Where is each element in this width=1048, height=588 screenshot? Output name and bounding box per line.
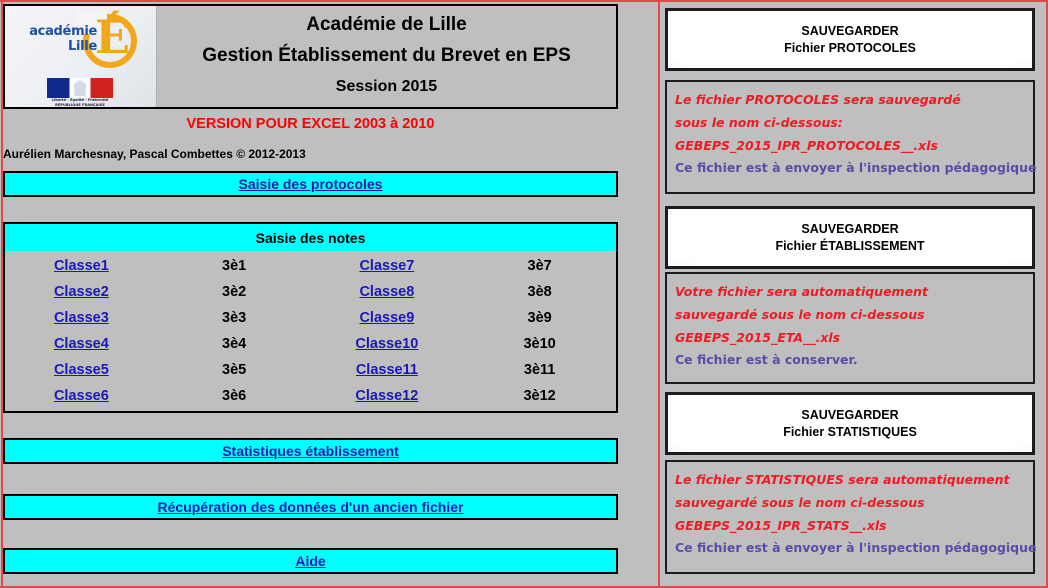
class-link-8[interactable]: Classe8 — [311, 284, 464, 300]
class-division-5: 3è5 — [158, 362, 311, 378]
republic-line2: RÉPUBLIQUE FRANÇAISE — [55, 103, 105, 107]
statistiques-info-box: Le fichier STATISTIQUES sera automatique… — [665, 460, 1035, 574]
save-etablissement-line1: SAUVEGARDER — [801, 221, 898, 238]
table-row[interactable]: Classe3 3è3 — [5, 305, 311, 331]
class-link-6[interactable]: Classe6 — [5, 388, 158, 404]
statistiques-info-note: Ce fichier est à envoyer à l'inspection … — [675, 537, 1025, 559]
statistiques-filename: GEBEPS_2015_IPR_STATS__.xls — [675, 514, 1025, 537]
class-division-7: 3è7 — [463, 258, 616, 274]
table-row[interactable]: Classe6 3è6 — [5, 383, 311, 409]
page-title: Académie de Lille — [306, 10, 467, 40]
table-row[interactable]: Classe2 3è2 — [5, 279, 311, 305]
class-division-10: 3è10 — [463, 336, 616, 352]
statistiques-info-line2: sauvegardé sous le nom ci-dessous — [675, 491, 1025, 514]
left-panel: académie Lille É Liberté · Égalité · Fra… — [3, 4, 630, 588]
session-label: Session 2015 — [336, 72, 437, 102]
table-row[interactable]: Classe12 3è12 — [311, 383, 617, 409]
republic-motto-text: Liberté · Égalité · Fraternité RÉPUBLIQU… — [47, 98, 113, 107]
table-row[interactable]: Classe5 3è5 — [5, 357, 311, 383]
table-row[interactable]: Classe1 3è1 — [5, 253, 311, 279]
class-link-4[interactable]: Classe4 — [5, 336, 158, 352]
class-link-7[interactable]: Classe7 — [311, 258, 464, 274]
protocoles-info-box: Le fichier PROTOCOLES sera sauvegardé so… — [665, 80, 1035, 194]
protocoles-info-line2: sous le nom ci-dessous: — [675, 111, 1025, 134]
class-division-12: 3è12 — [463, 388, 616, 404]
academy-logo: académie Lille É Liberté · Égalité · Fra… — [5, 6, 157, 107]
statistics-button[interactable]: Statistiques établissement — [3, 438, 618, 464]
class-link-5[interactable]: Classe5 — [5, 362, 158, 378]
table-row[interactable]: Classe8 3è8 — [311, 279, 617, 305]
notes-entry-section: Saisie des notes Classe1 3è1 Classe2 3è2… — [3, 222, 618, 413]
protocols-entry-label: Saisie des protocoles — [239, 176, 383, 192]
logo-academy-line1: académie — [29, 24, 97, 39]
class-division-1: 3è1 — [158, 258, 311, 274]
class-division-9: 3è9 — [463, 310, 616, 326]
class-grid: Classe1 3è1 Classe2 3è2 Classe3 3è3 Clas… — [5, 251, 616, 409]
logo-monogram-icon: É — [95, 14, 130, 60]
credits-line: Aurélien Marchesnay, Pascal Combettes © … — [3, 147, 618, 161]
statistiques-info-line1: Le fichier STATISTIQUES sera automatique… — [675, 468, 1025, 491]
table-row[interactable]: Classe11 3è11 — [311, 357, 617, 383]
save-statistiques-line1: SAUVEGARDER — [801, 407, 898, 424]
right-panel: SAUVEGARDER Fichier PROTOCOLES Le fichie… — [665, 2, 1043, 588]
class-link-10[interactable]: Classe10 — [311, 336, 464, 352]
class-division-2: 3è2 — [158, 284, 311, 300]
page-subtitle: Gestion Établissement du Brevet en EPS — [202, 40, 571, 72]
etablissement-info-line1: Votre fichier sera automatiquement — [675, 280, 1025, 303]
class-link-1[interactable]: Classe1 — [5, 258, 158, 274]
class-link-3[interactable]: Classe3 — [5, 310, 158, 326]
class-link-2[interactable]: Classe2 — [5, 284, 158, 300]
title-header-box: académie Lille É Liberté · Égalité · Fra… — [3, 4, 618, 109]
save-etablissement-line2: Fichier ÉTABLISSEMENT — [775, 238, 924, 255]
protocoles-info-line1: Le fichier PROTOCOLES sera sauvegardé — [675, 88, 1025, 111]
save-statistiques-button[interactable]: SAUVEGARDER Fichier STATISTIQUES — [665, 392, 1035, 455]
etablissement-filename: GEBEPS_2015_ETA__.xls — [675, 326, 1025, 349]
republic-line1: Liberté · Égalité · Fraternité — [52, 98, 109, 102]
class-column-right: Classe7 3è7 Classe8 3è8 Classe9 3è9 Clas… — [311, 253, 617, 409]
sheet-mid-rule — [658, 2, 660, 586]
protocoles-filename: GEBEPS_2015_IPR_PROTOCOLES__.xls — [675, 134, 1025, 157]
class-division-8: 3è8 — [463, 284, 616, 300]
etablissement-info-line2: sauvegardé sous le nom ci-dessous — [675, 303, 1025, 326]
class-link-12[interactable]: Classe12 — [311, 388, 464, 404]
application-window: académie Lille É Liberté · Égalité · Fra… — [0, 0, 1048, 588]
recover-data-label: Récupération des données d'un ancien fic… — [158, 499, 464, 515]
save-protocoles-line1: SAUVEGARDER — [801, 23, 898, 40]
class-column-left: Classe1 3è1 Classe2 3è2 Classe3 3è3 Clas… — [5, 253, 311, 409]
recover-data-button[interactable]: Récupération des données d'un ancien fic… — [3, 494, 618, 520]
protocols-entry-button[interactable]: Saisie des protocoles — [3, 171, 618, 197]
class-link-11[interactable]: Classe11 — [311, 362, 464, 378]
logo-academy-line2: Lille — [68, 39, 97, 54]
save-statistiques-line2: Fichier STATISTIQUES — [783, 424, 917, 441]
notes-section-title: Saisie des notes — [5, 224, 616, 251]
class-division-6: 3è6 — [158, 388, 311, 404]
save-protocoles-line2: Fichier PROTOCOLES — [784, 40, 916, 57]
save-protocoles-button[interactable]: SAUVEGARDER Fichier PROTOCOLES — [665, 8, 1035, 71]
class-link-9[interactable]: Classe9 — [311, 310, 464, 326]
version-notice: VERSION POUR EXCEL 2003 à 2010 — [3, 116, 618, 132]
save-etablissement-button[interactable]: SAUVEGARDER Fichier ÉTABLISSEMENT — [665, 206, 1035, 269]
class-division-3: 3è3 — [158, 310, 311, 326]
class-division-11: 3è11 — [463, 362, 616, 378]
etablissement-info-note: Ce fichier est à conserver. — [675, 349, 1025, 371]
help-label: Aide — [295, 553, 325, 569]
help-button[interactable]: Aide — [3, 548, 618, 574]
statistics-label: Statistiques établissement — [222, 443, 399, 459]
table-row[interactable]: Classe10 3è10 — [311, 331, 617, 357]
class-division-4: 3è4 — [158, 336, 311, 352]
title-block: Académie de Lille Gestion Établissement … — [157, 6, 616, 107]
protocoles-info-note: Ce fichier est à envoyer à l'inspection … — [675, 157, 1025, 179]
table-row[interactable]: Classe4 3è4 — [5, 331, 311, 357]
etablissement-info-box: Votre fichier sera automatiquement sauve… — [665, 272, 1035, 384]
logo-academy-text: académie Lille — [25, 24, 97, 54]
republique-francaise-logo-icon: Liberté · Égalité · Fraternité RÉPUBLIQU… — [47, 78, 113, 107]
academie-lille-logo-icon: académie Lille É — [11, 12, 151, 70]
table-row[interactable]: Classe7 3è7 — [311, 253, 617, 279]
table-row[interactable]: Classe9 3è9 — [311, 305, 617, 331]
